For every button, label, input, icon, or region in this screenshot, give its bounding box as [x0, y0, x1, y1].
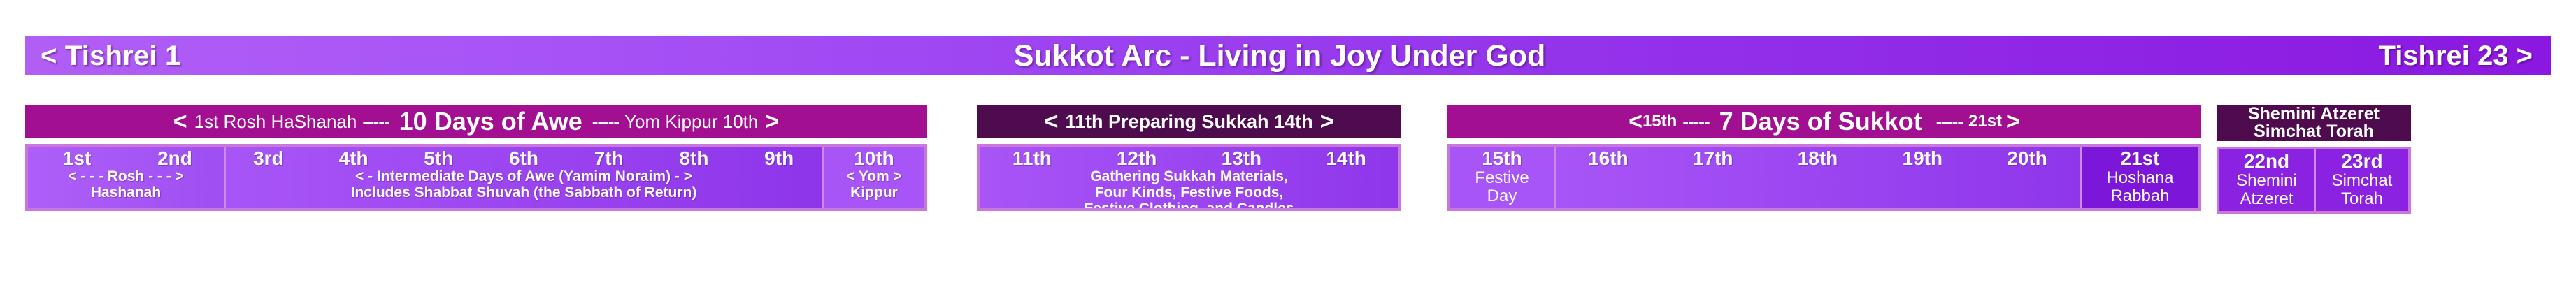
- day-group-intermediate-days-of-awe[interactable]: 3rd 4th 5th 6th 7th 8th 9th < - Intermed…: [224, 147, 822, 208]
- chevron-left-icon: <: [1045, 108, 1059, 136]
- day-cells-preparing-sukkah: 11th 12th 13th 14th Gathering Sukkah Mat…: [977, 144, 1401, 211]
- day-group-caption-line: < - Intermediate Days of Awe (Yamim Nora…: [226, 168, 822, 184]
- day-group-chol-hamoed-sukkot[interactable]: 16th 17th 18th 19th 20th: [1554, 147, 2080, 208]
- day-group-hoshana-rabbah[interactable]: 21st Hoshana Rabbah: [2080, 147, 2198, 208]
- day-number-row: 11th 12th 13th 14th: [980, 147, 1398, 168]
- day-number: 3rd: [226, 147, 311, 168]
- day-group-caption-line: Hashanah: [28, 184, 224, 200]
- timeline-sections: < 1st Rosh HaShanah ----- 10 Days of Awe…: [25, 105, 2551, 279]
- day-group-caption-line: Shemini: [2219, 171, 2314, 189]
- day-number-row: 3rd 4th 5th 6th 7th 8th 9th: [226, 147, 822, 168]
- dash-left: -----: [1677, 111, 1715, 133]
- day-group-caption-line: < Yom >: [824, 168, 924, 184]
- dash-right: -----: [587, 111, 624, 133]
- day-group-caption-line: Festive Clothing, and Candles: [980, 200, 1398, 208]
- day-group-caption-line: Torah: [2316, 189, 2408, 207]
- section-preparing-sukkah: < 11th Preparing Sukkah 14th > 11th 12th…: [977, 105, 1401, 211]
- section-ten-days-of-awe: < 1st Rosh HaShanah ----- 10 Days of Awe…: [25, 105, 927, 211]
- section-header-line-1: Shemini Atzeret: [2248, 105, 2380, 124]
- dash-right: -----: [1926, 111, 1968, 133]
- section-header-title: 10 Days of Awe: [395, 107, 587, 136]
- day-number: 12th: [1085, 147, 1189, 168]
- day-group-caption-line: Rabbah: [2082, 187, 2198, 205]
- day-group-caption-line: Gathering Sukkah Materials,: [980, 168, 1398, 184]
- day-number: 5th: [396, 147, 481, 168]
- chevron-right-icon: >: [1320, 108, 1334, 136]
- day-group-shemini-atzeret[interactable]: 22nd Shemini Atzeret: [2219, 149, 2314, 211]
- day-group-caption-line: Simchat: [2316, 171, 2408, 189]
- day-group-caption-line: < - - - Rosh - - - >: [28, 168, 224, 184]
- day-number: 22nd: [2219, 149, 2314, 171]
- day-group-caption-line: Festive: [1450, 168, 1554, 187]
- day-number: 9th: [736, 147, 822, 168]
- day-number-row: 23rd: [2316, 149, 2408, 171]
- day-number: 7th: [566, 147, 652, 168]
- section-header-lead: 15th: [1643, 112, 1677, 131]
- day-group-rosh-hashanah[interactable]: 1st 2nd < - - - Rosh - - - > Hashanah: [28, 147, 224, 208]
- sukkot-arc-timeline: < Tishrei 1 Sukkot Arc - Living in Joy U…: [0, 0, 2576, 299]
- day-number: 1st: [28, 147, 126, 168]
- day-number: 19th: [1870, 147, 1975, 168]
- section-header-ten-days-of-awe: < 1st Rosh HaShanah ----- 10 Days of Awe…: [25, 105, 927, 138]
- day-group-caption-line: Four Kinds, Festive Foods,: [980, 184, 1398, 200]
- section-header-line-2: Simchat Torah: [2254, 123, 2374, 141]
- section-header-preparing-sukkah: < 11th Preparing Sukkah 14th >: [977, 105, 1401, 138]
- section-header-lead: 11th Preparing Sukkah 14th: [1058, 111, 1319, 133]
- section-header-shemini-atzeret-simchat-torah: Shemini Atzeret Simchat Torah: [2217, 105, 2411, 141]
- section-seven-days-of-sukkot: < 15th ----- 7 Days of Sukkot ----- 21st…: [1447, 105, 2201, 211]
- day-number: 11th: [980, 147, 1085, 168]
- section-header-seven-days-of-sukkot: < 15th ----- 7 Days of Sukkot ----- 21st…: [1447, 105, 2201, 138]
- dash-left: -----: [357, 111, 394, 133]
- section-shemini-atzeret-simchat-torah: Shemini Atzeret Simchat Torah 22nd Shemi…: [2217, 105, 2411, 214]
- day-group-caption-line: Includes Shabbat Shuvah (the Sabbath of …: [226, 184, 822, 200]
- section-header-trail: Yom Kippur 10th: [624, 111, 758, 133]
- day-number: 18th: [1766, 147, 1870, 168]
- day-number: 21st: [2082, 147, 2198, 168]
- day-number-row: 1st 2nd: [28, 147, 224, 168]
- day-number: 13th: [1189, 147, 1294, 168]
- day-cells-seven-days-of-sukkot: 15th Festive Day 16th 17th 18th 19th 20t…: [1447, 144, 2201, 211]
- day-number: 6th: [481, 147, 566, 168]
- page-title: Sukkot Arc - Living in Joy Under God: [180, 39, 2378, 73]
- day-number: 15th: [1450, 147, 1554, 168]
- section-header-title: 7 Days of Sukkot: [1715, 107, 1926, 136]
- day-group-caption-line: Kippur: [824, 184, 924, 200]
- day-number-row: 15th: [1450, 147, 1554, 168]
- section-header-lead: 1st Rosh HaShanah: [187, 111, 357, 133]
- day-group-festive-day[interactable]: 15th Festive Day: [1450, 147, 1554, 208]
- day-group-caption-line: Atzeret: [2219, 189, 2314, 207]
- day-number: 8th: [652, 147, 737, 168]
- day-number: 17th: [1661, 147, 1766, 168]
- day-number-row: 16th 17th 18th 19th 20th: [1556, 147, 2080, 168]
- day-number: 10th: [824, 147, 924, 168]
- day-group-sukkah-preparation[interactable]: 11th 12th 13th 14th Gathering Sukkah Mat…: [980, 147, 1398, 208]
- day-number: 20th: [1975, 147, 2080, 168]
- chevron-left-icon: <: [1629, 108, 1643, 136]
- day-group-simchat-torah[interactable]: 23rd Simchat Torah: [2314, 149, 2408, 211]
- section-header-trail: 21st: [1968, 112, 2002, 131]
- chevron-right-icon: >: [2002, 108, 2020, 136]
- chevron-right-icon: >: [758, 108, 779, 136]
- day-number: 4th: [311, 147, 396, 168]
- day-number-row: 10th: [824, 147, 924, 168]
- day-cells-shemini-atzeret-simchat-torah: 22nd Shemini Atzeret 23rd Simchat Torah: [2217, 147, 2411, 214]
- day-number: 2nd: [126, 147, 224, 168]
- day-group-yom-kippur[interactable]: 10th < Yom > Kippur: [822, 147, 924, 208]
- title-bar: < Tishrei 1 Sukkot Arc - Living in Joy U…: [25, 36, 2551, 75]
- day-number-row: 22nd: [2219, 149, 2314, 171]
- prev-nav-label[interactable]: < Tishrei 1: [25, 41, 180, 72]
- day-number-row: 21st: [2082, 147, 2198, 168]
- day-number: 23rd: [2316, 149, 2408, 171]
- day-group-caption-line: Day: [1450, 187, 1554, 205]
- day-group-caption-line: Hoshana: [2082, 168, 2198, 187]
- chevron-left-icon: <: [173, 108, 187, 136]
- day-number: 14th: [1294, 147, 1398, 168]
- day-number: 16th: [1556, 147, 1661, 168]
- day-cells-ten-days-of-awe: 1st 2nd < - - - Rosh - - - > Hashanah 3r…: [25, 144, 927, 211]
- next-nav-label[interactable]: Tishrei 23 >: [2378, 41, 2551, 72]
